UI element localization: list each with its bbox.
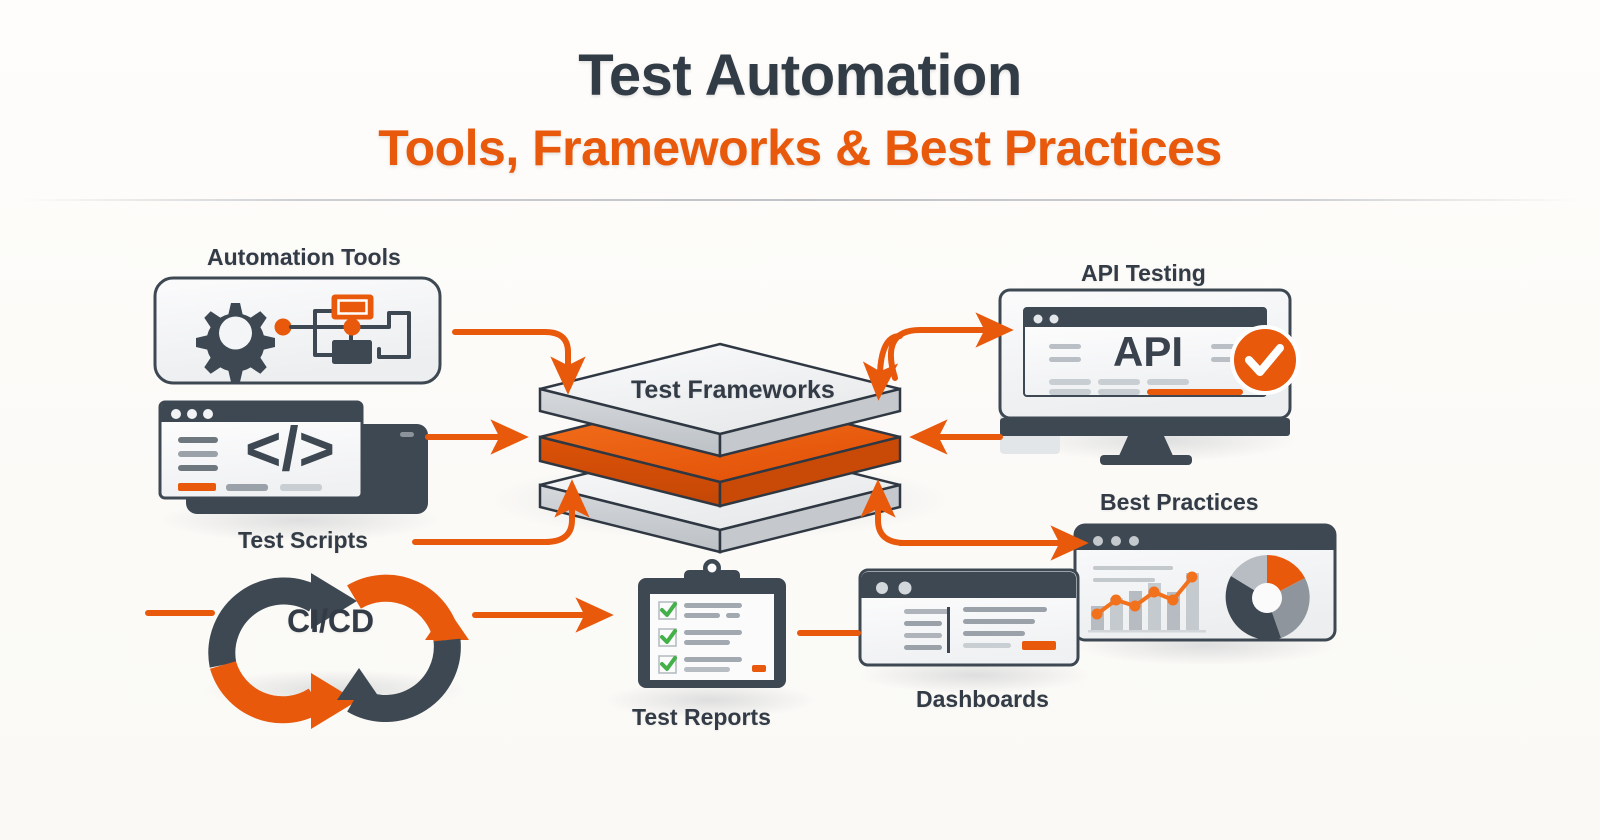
connector-dot-left [275, 319, 292, 336]
monitor-dot-1 [1034, 315, 1043, 324]
label-test-scripts: Test Scripts [238, 527, 368, 554]
code-bottom-bar-2 [280, 484, 322, 491]
clipboard-ring-inner [708, 564, 717, 573]
label-dashboards: Dashboards [916, 686, 1049, 713]
window-dot-2 [187, 409, 197, 419]
label-best-practices: Best Practices [1100, 489, 1259, 516]
infographic-canvas: Test Automation Tools, Frameworks & Best… [0, 0, 1600, 840]
connector-dot-center [344, 319, 361, 336]
dashboards-titlebar [862, 572, 1077, 598]
monitor-stand-foot [1100, 455, 1192, 465]
bp-donut-chart [1226, 555, 1310, 640]
arrow-frameworks-to-api [891, 330, 985, 378]
dash-dot-2 [899, 582, 912, 595]
script-device-speaker [400, 432, 414, 437]
label-test-reports: Test Reports [632, 704, 771, 731]
node-test-scripts[interactable]: </> [160, 402, 428, 514]
node-automation-tools[interactable] [155, 278, 440, 383]
gear-icon [196, 303, 275, 382]
monitor-chin [1000, 418, 1290, 436]
node-dashboards[interactable] [860, 570, 1078, 665]
node-test-reports[interactable] [638, 559, 786, 688]
arrow-tools-to-frameworks [455, 332, 568, 366]
diagram-art: </> [0, 0, 1600, 840]
code-glyph: </> [245, 415, 335, 484]
automation-tools-card[interactable] [155, 278, 440, 383]
window-dot-3 [203, 409, 213, 419]
code-accent-bar [178, 483, 216, 491]
api-screen-text: API [1113, 328, 1183, 375]
label-automation-tools: Automation Tools [207, 244, 401, 271]
label-api-testing: API Testing [1081, 260, 1206, 287]
bp-dot-2 [1111, 536, 1121, 546]
flow-node-dark [332, 340, 372, 364]
bp-dot-3 [1129, 536, 1139, 546]
code-bottom-bar-1 [226, 484, 268, 491]
monitor-dot-2 [1050, 315, 1059, 324]
dash-dot-1 [876, 582, 888, 594]
node-best-practices[interactable] [1075, 525, 1335, 640]
check-badge-icon [1232, 327, 1298, 393]
window-dot-1 [171, 409, 181, 419]
node-ci-cd[interactable] [222, 573, 469, 729]
code-left-lines [178, 437, 218, 471]
bp-rule-1 [1093, 566, 1173, 570]
bp-dot-1 [1093, 536, 1103, 546]
label-ci-cd: CI/CD [287, 603, 374, 640]
label-test-frameworks: Test Frameworks [631, 376, 835, 405]
bp-rule-2 [1093, 578, 1155, 582]
monitor-screen-titlebar [1024, 308, 1266, 327]
